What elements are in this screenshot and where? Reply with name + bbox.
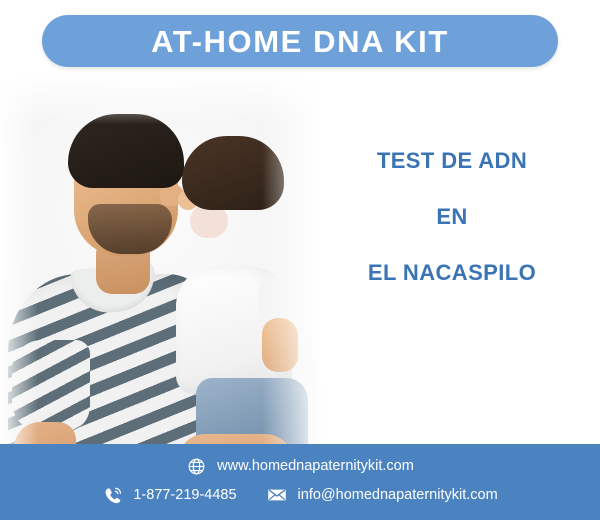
child-arm — [262, 318, 298, 372]
headline-block: TEST DE ADN EN EL NACASPILO — [322, 150, 582, 284]
contact-footer: www.homednapaternitykit.com 1-877-219-44… — [0, 444, 600, 520]
phone-contact[interactable]: 1-877-219-4485 — [102, 485, 236, 505]
family-photo-canvas — [0, 78, 322, 450]
phone-label: 1-877-219-4485 — [133, 488, 236, 503]
phone-icon — [102, 485, 122, 505]
family-photo — [0, 78, 322, 450]
headline-line-1: TEST DE ADN — [322, 150, 582, 172]
footer-row-phone-email: 1-877-219-4485 info@homednapaternitykit.… — [0, 485, 600, 505]
father-sleeve — [12, 340, 90, 432]
footer-row-website: www.homednapaternitykit.com — [0, 456, 600, 476]
headline-line-2: EN — [322, 206, 582, 228]
envelope-icon — [267, 485, 287, 505]
email-label: info@homednapaternitykit.com — [298, 488, 498, 503]
father-hair — [68, 114, 184, 188]
title-pill: AT-HOME DNA KIT — [42, 15, 558, 67]
globe-icon — [186, 456, 206, 476]
header-band: AT-HOME DNA KIT — [0, 0, 600, 84]
website-label: www.homednapaternitykit.com — [217, 459, 414, 474]
child-hair — [182, 136, 284, 210]
headline-line-3: EL NACASPILO — [322, 262, 582, 284]
page-title: AT-HOME DNA KIT — [151, 26, 449, 57]
promo-poster: AT-HOME DNA KIT T — [0, 0, 600, 520]
email-contact[interactable]: info@homednapaternitykit.com — [267, 485, 498, 505]
website-contact[interactable]: www.homednapaternitykit.com — [186, 456, 414, 476]
